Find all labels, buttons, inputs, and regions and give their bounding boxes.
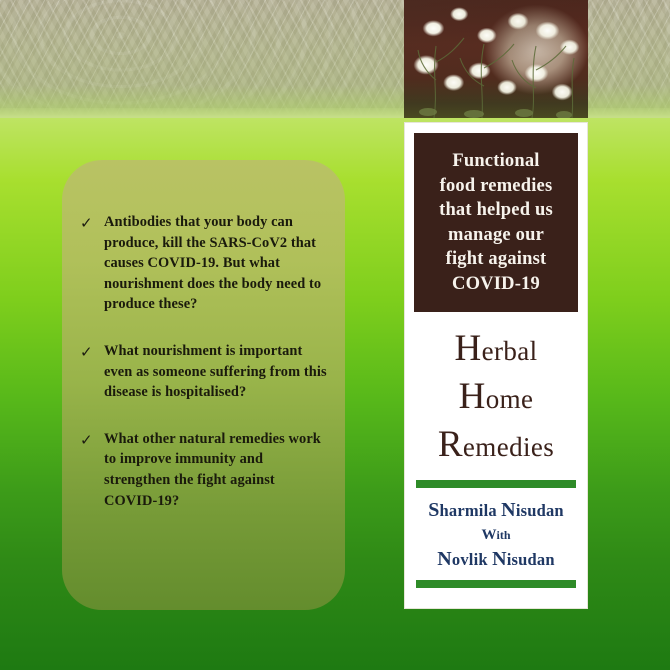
author-secondary: Novlik Nisudan	[414, 547, 578, 572]
author-rest: isudan	[516, 501, 564, 520]
subtitle-rest: erbal	[482, 336, 538, 366]
cover-subtitle-line: Home	[414, 374, 578, 422]
subtitle-rest: emedies	[463, 432, 554, 462]
slide-canvas: ✓ Antibodies that your body can produce,…	[0, 0, 670, 670]
check-icon: ✓	[80, 429, 104, 451]
cover-authors: Sharmila Nisudan With Novlik Nisudan	[414, 488, 578, 572]
list-item: ✓ What nourishment is important even as …	[80, 341, 327, 403]
author-rest: harmila	[440, 501, 502, 520]
check-icon: ✓	[80, 341, 104, 363]
cover-subtitle-line: Remedies	[414, 422, 578, 470]
author-initial: S	[428, 499, 439, 521]
cover-title-line: that helped us	[422, 198, 570, 223]
check-icon: ✓	[80, 212, 104, 234]
cover-divider-bottom	[416, 580, 576, 588]
cover-title-line: food remedies	[422, 174, 570, 199]
flower-stems-icon	[404, 0, 588, 118]
bullet-text: What other natural remedies work to impr…	[104, 429, 327, 511]
content-panel: ✓ Antibodies that your body can produce,…	[62, 160, 345, 610]
bullet-text: Antibodies that your body can produce, k…	[104, 212, 327, 315]
author-connector: With	[414, 523, 578, 547]
connector-rest: ith	[496, 528, 510, 542]
cover-title-line: COVID-19	[422, 272, 570, 297]
author-initial: N	[437, 548, 452, 570]
list-item: ✓ What other natural remedies work to im…	[80, 429, 327, 511]
connector-initial: W	[481, 527, 496, 543]
cover-divider-top	[416, 480, 576, 488]
book-cover: Functional food remedies that helped us …	[404, 122, 588, 609]
cover-title-line: fight against	[422, 247, 570, 272]
author-initial: N	[492, 548, 507, 570]
author-initial: N	[501, 499, 516, 521]
dropcap: R	[438, 424, 463, 465]
cover-subtitle-line: Herbal	[414, 326, 578, 374]
author-rest: ovlik	[452, 550, 492, 569]
subtitle-rest: ome	[486, 384, 534, 414]
cover-title-line: Functional	[422, 149, 570, 174]
cover-subtitle: Herbal Home Remedies	[414, 312, 578, 476]
bullet-text: What nourishment is important even as so…	[104, 341, 327, 403]
dropcap: H	[459, 376, 486, 417]
author-primary: Sharmila Nisudan	[414, 498, 578, 523]
dropcap: H	[454, 328, 481, 369]
bullet-list: ✓ Antibodies that your body can produce,…	[80, 212, 327, 511]
cover-title-box: Functional food remedies that helped us …	[414, 133, 578, 312]
list-item: ✓ Antibodies that your body can produce,…	[80, 212, 327, 315]
author-rest: isudan	[507, 550, 555, 569]
cover-title-line: manage our	[422, 223, 570, 248]
flower-photo	[404, 0, 588, 118]
